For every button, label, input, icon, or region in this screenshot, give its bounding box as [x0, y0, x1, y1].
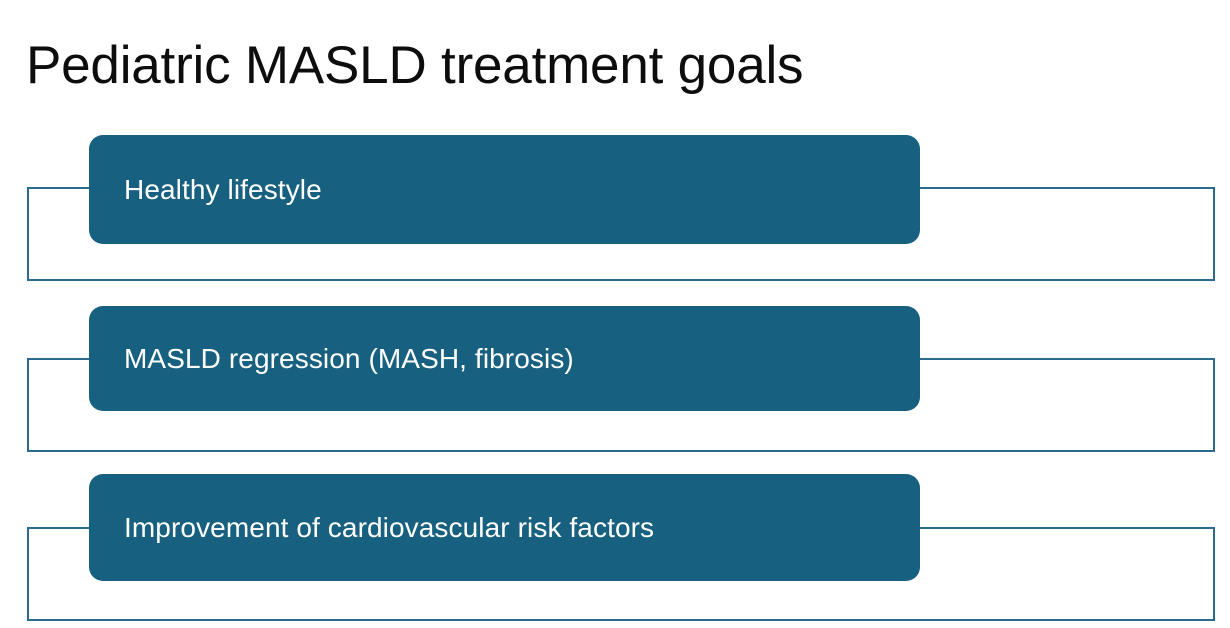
goal-chip-3[interactable]: Improvement of cardiovascular risk facto… [89, 474, 920, 581]
goal-chip-label-3: Improvement of cardiovascular risk facto… [89, 511, 674, 545]
goal-group-3: Improvement of cardiovascular risk facto… [0, 0, 1230, 628]
slide-canvas: Pediatric MASLD treatment goals Healthy … [0, 0, 1230, 628]
